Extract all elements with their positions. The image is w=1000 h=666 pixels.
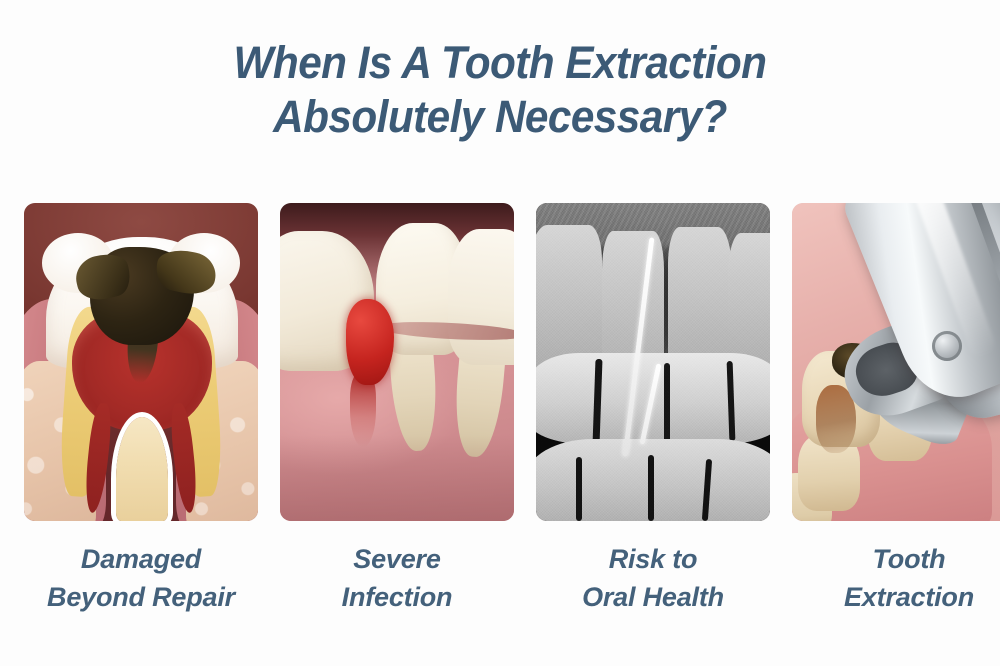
extraction-forceps-photo [792,203,1000,521]
caption-damaged-beyond-repair: Damaged Beyond Repair [24,540,258,640]
caption-line-1: Tooth [792,540,1000,578]
decayed-molar-cross-section-image [24,203,258,521]
panel-row [24,203,1000,521]
caption-severe-infection: Severe Infection [280,540,514,640]
page-title: When Is A Tooth Extraction Absolutely Ne… [0,36,1000,144]
panel-severe-infection [280,203,514,521]
page-title-line-1: When Is A Tooth Extraction [30,36,970,90]
panel-risk-to-oral-health [536,203,770,521]
caption-line-1: Risk to [536,540,770,578]
caption-line-2: Infection [280,578,514,616]
panel-damaged-beyond-repair [24,203,258,521]
page-title-line-2: Absolutely Necessary? [30,90,970,144]
dental-xray-image [536,203,770,521]
caption-risk-to-oral-health: Risk to Oral Health [536,540,770,640]
caption-line-2: Extraction [792,578,1000,616]
caption-line-1: Damaged [24,540,258,578]
caption-line-2: Oral Health [536,578,770,616]
caption-line-1: Severe [280,540,514,578]
caption-line-2: Beyond Repair [24,578,258,616]
panel-tooth-extraction [792,203,1000,521]
infographic-root: When Is A Tooth Extraction Absolutely Ne… [0,0,1000,666]
caption-row: Damaged Beyond Repair Severe Infection R… [24,540,1000,640]
caption-tooth-extraction: Tooth Extraction [792,540,1000,640]
infected-gum-clinical-photo [280,203,514,521]
